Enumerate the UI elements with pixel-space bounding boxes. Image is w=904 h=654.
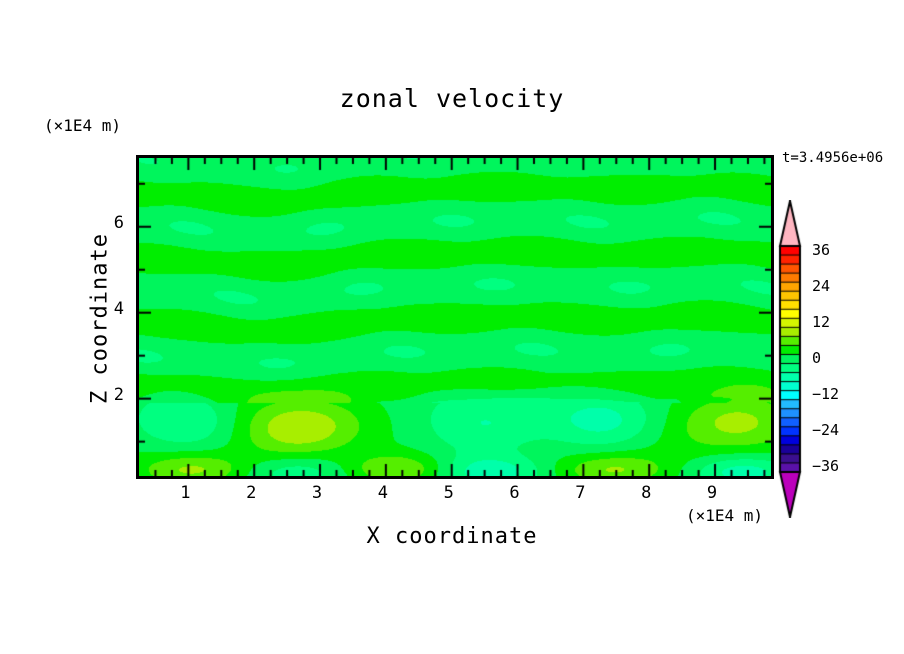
- colorbar-tick-label: −24: [812, 421, 852, 439]
- colorbar-tick-label: 0: [812, 349, 852, 367]
- x-tick-label: 6: [500, 483, 530, 503]
- x-tick-label: 3: [302, 483, 332, 503]
- x-tick-label: 5: [434, 483, 464, 503]
- x-tick-label: 1: [170, 483, 200, 503]
- x-axis-unit-label: (×1E4 m): [686, 506, 763, 525]
- y-tick-label: 6: [94, 213, 124, 233]
- colorbar-tick-label: 12: [812, 313, 852, 331]
- page-title: zonal velocity: [0, 84, 904, 113]
- x-tick-label: 2: [236, 483, 266, 503]
- colorbar-tick-label: −36: [812, 457, 852, 475]
- x-tick-label: 9: [697, 483, 727, 503]
- y-tick-label: 4: [94, 299, 124, 319]
- x-tick-label: 8: [631, 483, 661, 503]
- contour-field: [139, 158, 771, 476]
- colorbar-tick-label: 36: [812, 241, 852, 259]
- plot-area: [136, 155, 774, 479]
- timestamp-annotation: t=3.4956e+06: [782, 150, 883, 166]
- y-tick-label: 2: [94, 385, 124, 405]
- colorbar-tick-label: 24: [812, 277, 852, 295]
- x-axis-title: X coordinate: [136, 524, 768, 549]
- y-axis-unit-label: (×1E4 m): [44, 116, 121, 135]
- colorbar-gradient: [776, 200, 812, 518]
- x-tick-label: 4: [368, 483, 398, 503]
- colorbar-tick-label: −12: [812, 385, 852, 403]
- colorbar: [776, 200, 812, 518]
- x-tick-label: 7: [565, 483, 595, 503]
- contour-figure: zonal velocity (×1E4 m) (×1E4 m) t=3.495…: [0, 0, 904, 654]
